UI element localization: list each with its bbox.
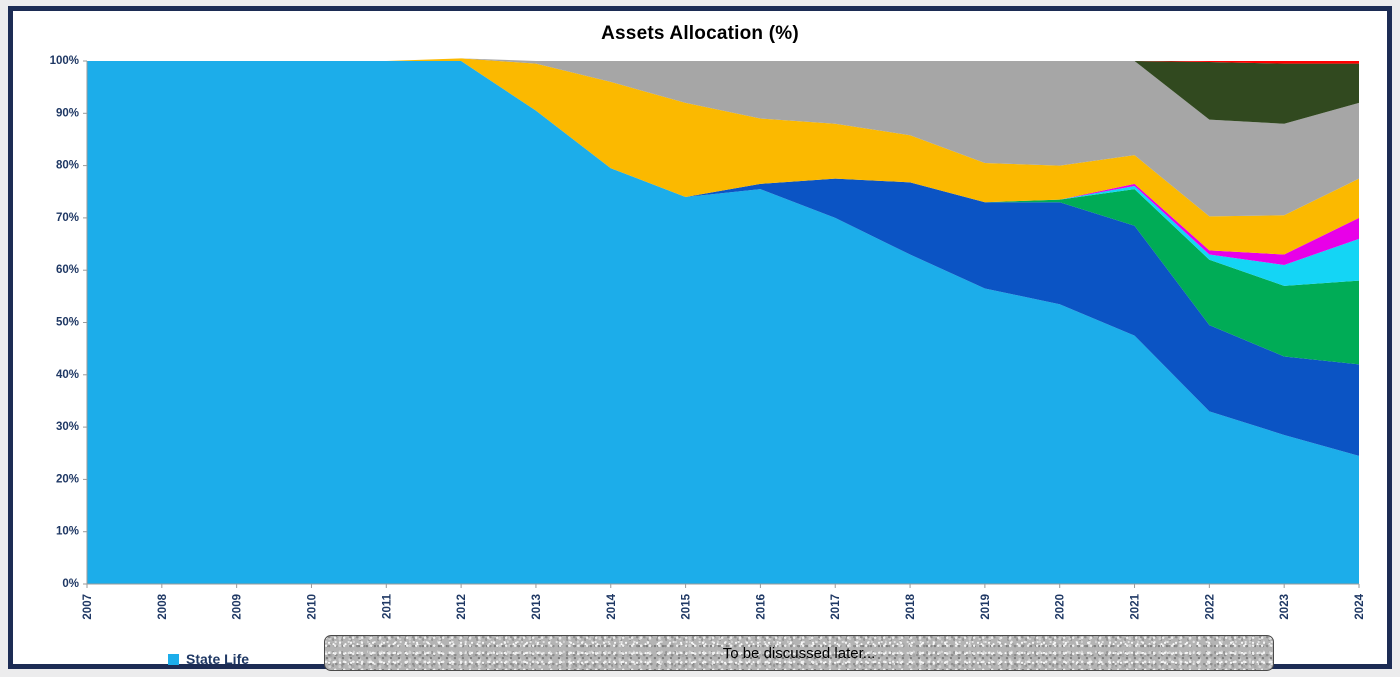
x-tick-label: 2024	[1354, 593, 1366, 619]
stacked-area-chart: 100%90%80%70%60%50%40%30%20%10%0% 200720…	[13, 11, 1387, 664]
callout-box[interactable]: To be discussed later...	[324, 635, 1274, 671]
legend-label-state-life: State Life	[186, 651, 249, 667]
x-tick-label: 2015	[681, 593, 693, 619]
chart-series-group	[87, 58, 1359, 584]
x-tick-label: 2020	[1055, 594, 1067, 620]
y-tick-label: 90%	[56, 107, 79, 119]
legend-swatch-state-life	[168, 654, 179, 665]
x-tick-label: 2013	[531, 594, 543, 620]
x-tick-label: 2010	[306, 594, 318, 620]
y-tick-label: 60%	[56, 264, 79, 276]
x-tick-label: 2022	[1204, 594, 1216, 620]
y-tick-label: 20%	[56, 473, 79, 485]
x-tick-label: 2011	[381, 593, 393, 619]
chart-area: 100%90%80%70%60%50%40%30%20%10%0% 200720…	[13, 11, 1387, 664]
callout-text: To be discussed later...	[723, 645, 876, 662]
y-tick-label: 80%	[56, 160, 79, 172]
chart-legend: State Life	[168, 651, 249, 667]
x-tick-label: 2009	[232, 594, 244, 620]
y-tick-label: 30%	[56, 421, 79, 433]
x-tick-label: 2023	[1279, 594, 1291, 620]
x-tick-label: 2018	[905, 593, 917, 619]
x-tick-label: 2016	[755, 594, 767, 620]
y-tick-label: 0%	[62, 578, 79, 590]
x-tick-label: 2007	[82, 594, 94, 620]
x-tick-label: 2017	[830, 594, 842, 620]
x-tick-label: 2012	[456, 594, 468, 620]
y-tick-label: 10%	[56, 526, 79, 538]
x-tick-label: 2021	[1130, 593, 1142, 619]
x-tick-label: 2008	[157, 593, 169, 619]
x-tick-label: 2019	[980, 594, 992, 620]
y-tick-label: 40%	[56, 369, 79, 381]
y-tick-label: 70%	[56, 212, 79, 224]
y-tick-label: 100%	[50, 55, 79, 67]
slide-canvas: Assets Allocation (%) 100%90%80%70%60%50…	[8, 6, 1392, 669]
y-tick-label: 50%	[56, 317, 79, 329]
x-axis-ticks: 2007200820092010201120122013201420152016…	[82, 584, 1366, 620]
x-tick-label: 2014	[606, 593, 618, 619]
y-axis-ticks: 100%90%80%70%60%50%40%30%20%10%0%	[50, 55, 87, 590]
